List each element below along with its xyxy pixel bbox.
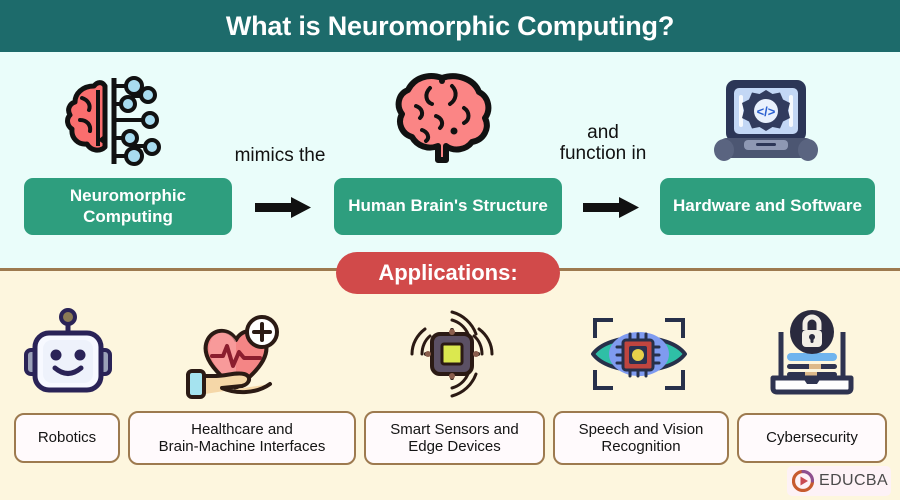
heart-in-hand-icon (186, 308, 286, 400)
applications-badge: Applications: (336, 252, 560, 294)
page-title: What is Neuromorphic Computing? (226, 11, 674, 42)
educba-logo[interactable]: EDUCBA (787, 466, 891, 496)
application-label-healthcare[interactable]: Healthcare andBrain-Machine Interfaces (128, 411, 356, 465)
eye-chip-scan-icon (587, 310, 691, 398)
application-label-speech-vision[interactable]: Speech and VisionRecognition (553, 411, 729, 465)
connector-label-mimics: mimics the (214, 146, 346, 167)
brain-circuit-icon (58, 68, 170, 173)
brain-icon (392, 68, 496, 168)
arrow-right-icon (255, 195, 313, 219)
laptop-lock-icon (765, 308, 859, 400)
arrow-right-icon (583, 195, 641, 219)
laptop-gear-code-icon: </> (710, 72, 822, 170)
connector-label-function: andfunction in (537, 123, 669, 164)
flow-box-human-brain-structure[interactable]: Human Brain's Structure (334, 178, 562, 235)
educba-logo-text: EDUCBA (819, 472, 888, 490)
flow-box-neuromorphic-computing[interactable]: Neuromorphic Computing (24, 178, 232, 235)
flow-box-hardware-and-software[interactable]: Hardware and Software (660, 178, 875, 235)
application-label-robotics[interactable]: Robotics (14, 413, 120, 463)
application-label-cybersecurity[interactable]: Cybersecurity (737, 413, 887, 463)
educba-swirl-logo-icon (792, 470, 814, 492)
robot-head-icon (22, 308, 114, 400)
svg-text:</>: </> (757, 104, 776, 119)
wireless-chip-icon (404, 308, 500, 400)
header-bar: What is Neuromorphic Computing? (0, 0, 900, 52)
infographic-canvas: What is Neuromorphic Computing? (0, 0, 900, 500)
application-label-smart-sensors[interactable]: Smart Sensors andEdge Devices (364, 411, 545, 465)
